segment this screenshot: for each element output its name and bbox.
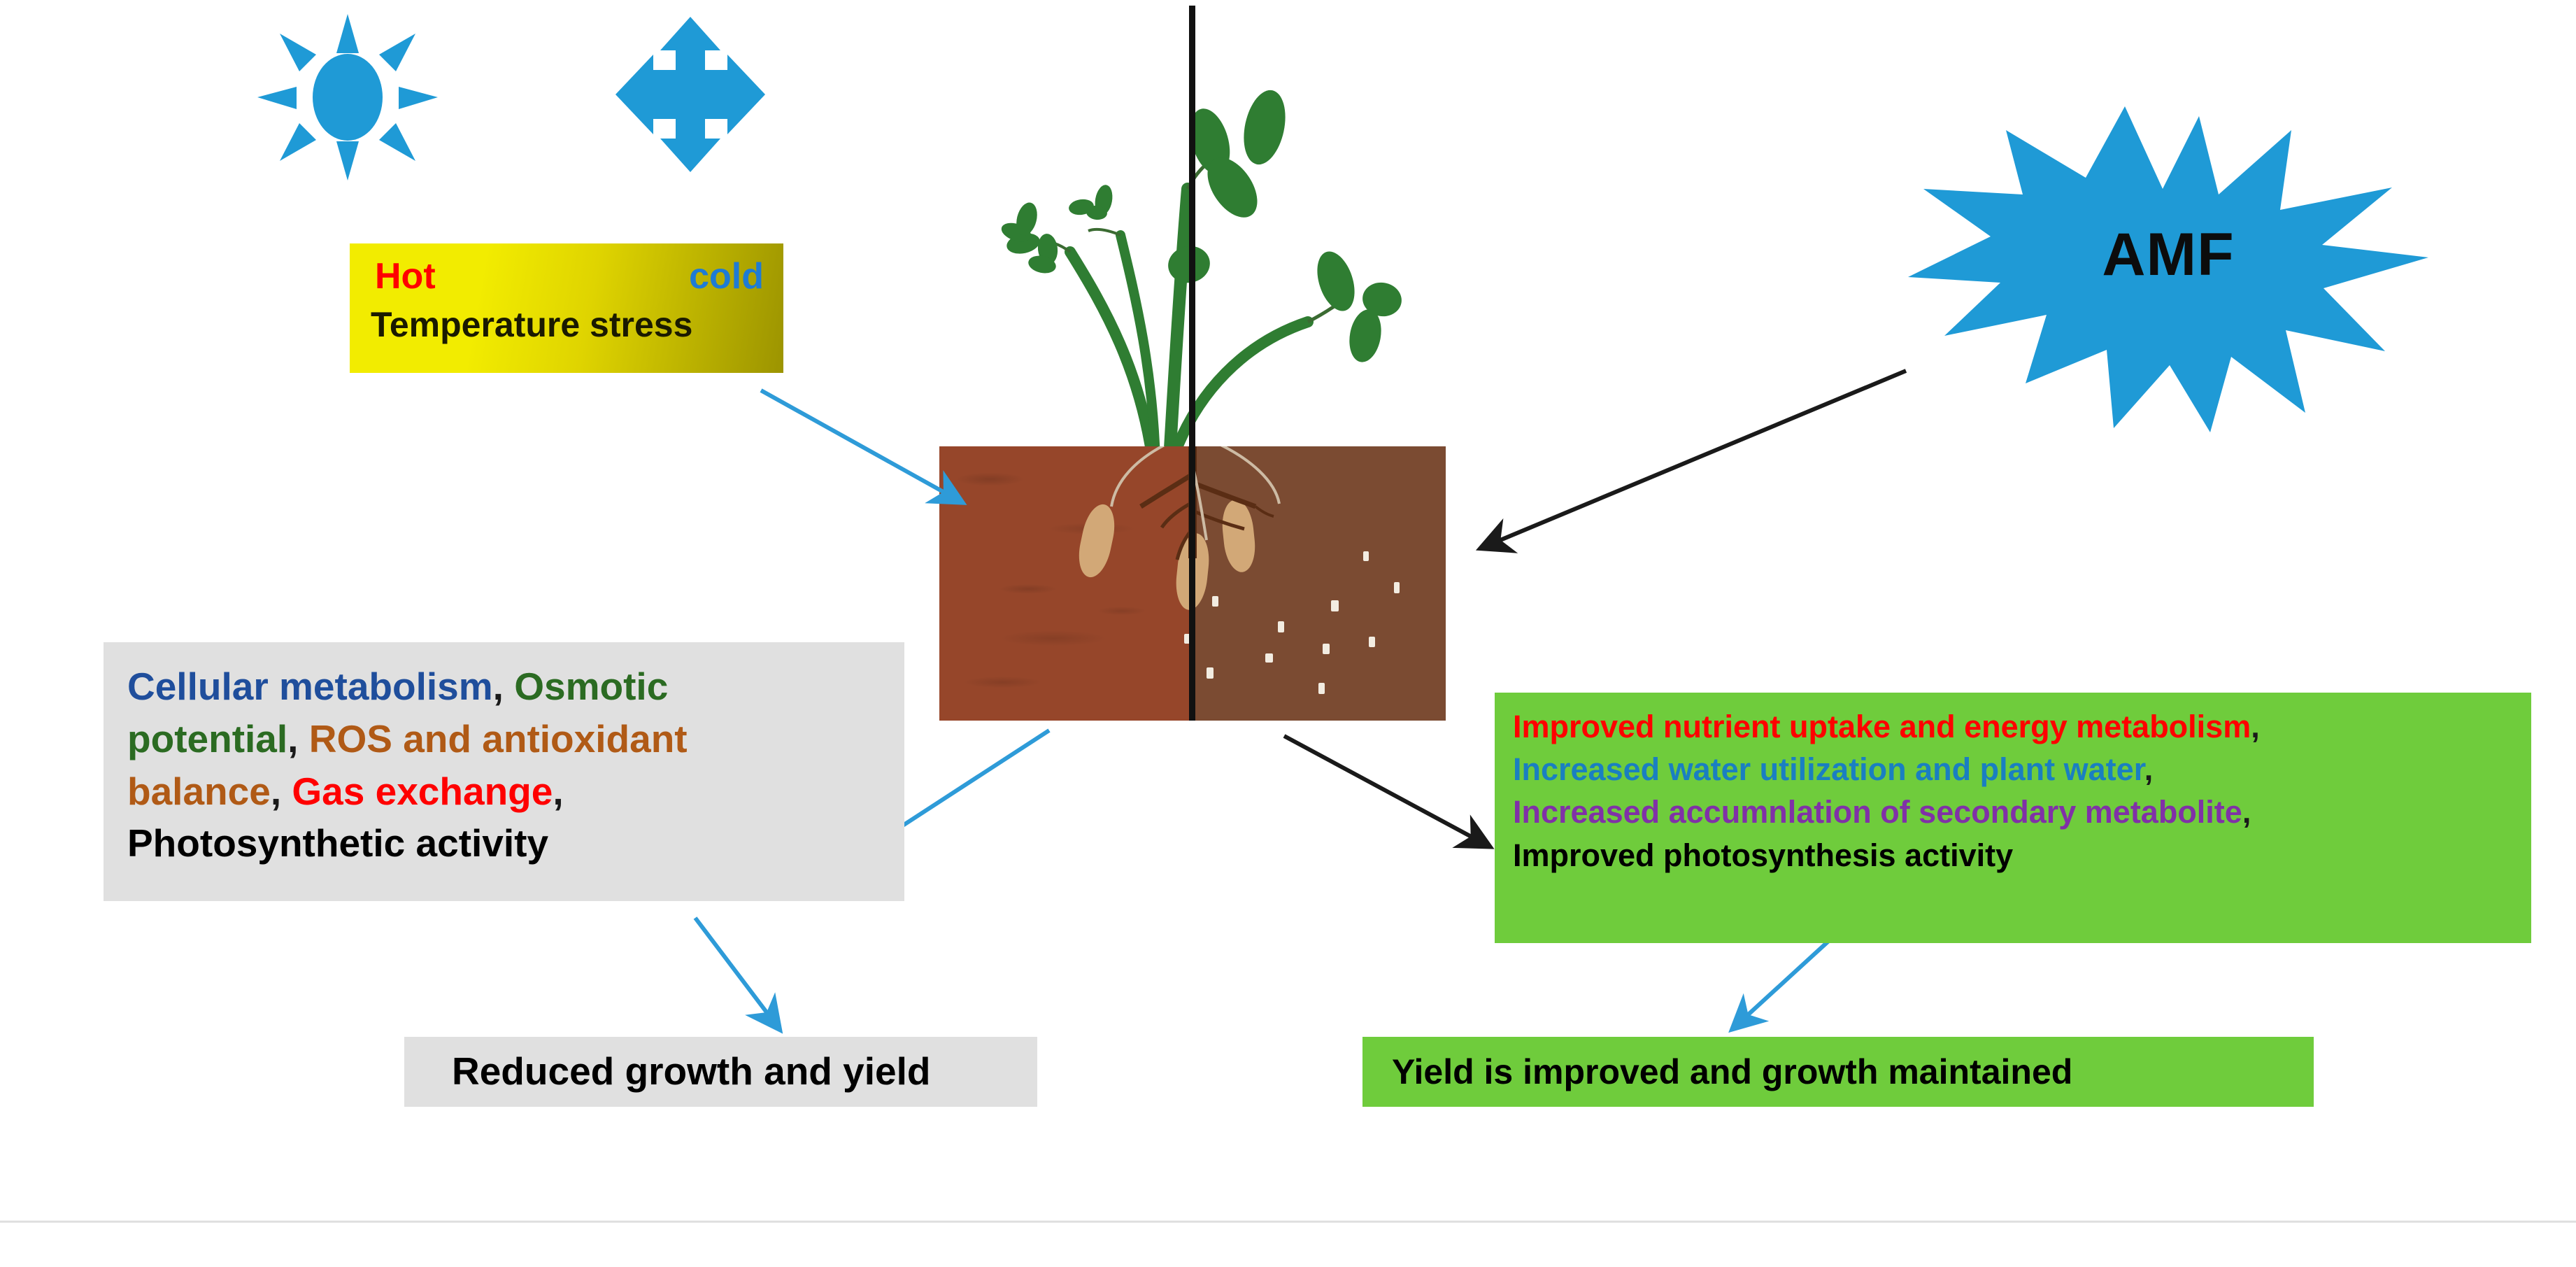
cold-label: cold — [689, 253, 764, 301]
benefit-seg: , — [2242, 794, 2251, 830]
soil-cross-section — [939, 446, 1446, 721]
stress-seg: potential — [127, 717, 287, 760]
stress-seg: Cellular metabolism — [127, 665, 493, 708]
stress-seg: , — [553, 770, 563, 813]
four-way-arrows-icon — [603, 14, 778, 175]
stress-effects-line: Photosynthetic activity — [127, 817, 881, 870]
temperature-stress-caption: Temperature stress — [365, 302, 768, 348]
yield-improved-outcome-box: Yield is improved and growth maintained — [1362, 1037, 2314, 1107]
temperature-stress-box: Hot cold Temperature stress — [350, 243, 783, 373]
yield-improved-label: Yield is improved and growth maintained — [1392, 1049, 2072, 1095]
stress-seg: , — [287, 717, 309, 760]
benefit-seg: Increased water utilization and plant wa… — [1513, 751, 2144, 787]
stress-seg: balance — [127, 770, 271, 813]
stress-seg: , — [271, 770, 292, 813]
hot-label: Hot — [375, 253, 436, 301]
stress-seg: Photosynthetic activity — [127, 821, 548, 865]
arrow-amf-to-soil — [1465, 364, 1920, 574]
stress-seg: Gas exchange — [292, 770, 553, 813]
reduced-growth-outcome-box: Reduced growth and yield — [404, 1037, 1037, 1107]
amf-label: AMF — [2042, 220, 2294, 290]
plant-stems-left — [999, 183, 1155, 460]
temperature-hot-cold-row: Hot cold — [365, 253, 768, 301]
arrow-soil-to-amf-benefits — [1273, 728, 1511, 889]
plant-stems-right — [1165, 86, 1404, 460]
stress-effects-box: Cellular metabolism, Osmotic potential, … — [104, 642, 904, 901]
sun-icon — [246, 10, 449, 185]
stress-effects-line: Cellular metabolism, Osmotic — [127, 660, 881, 713]
amf-benefits-box: Improved nutrient uptake and energy meta… — [1495, 693, 2531, 943]
arrow-stress-effects-to-reduced-growth — [685, 909, 839, 1049]
stress-seg: Osmotic — [514, 665, 668, 708]
treatment-divider-line — [1189, 6, 1195, 721]
benefit-seg: , — [2251, 709, 2260, 744]
benefit-seg: Improved photosynthesis activity — [1513, 837, 2013, 873]
stress-seg: , — [493, 665, 515, 708]
benefit-seg: Improved nutrient uptake and energy meta… — [1513, 709, 2251, 744]
stress-effects-line: balance, Gas exchange, — [127, 765, 881, 818]
amf-benefit-line: Increased water utilization and plant wa… — [1513, 748, 2513, 791]
plant-illustration — [930, 42, 1462, 462]
stress-seg: ROS and antioxidant — [309, 717, 688, 760]
amf-benefit-line: Improved nutrient uptake and energy meta… — [1513, 705, 2513, 748]
benefit-seg: , — [2144, 751, 2154, 787]
reduced-growth-label: Reduced growth and yield — [452, 1047, 931, 1097]
amf-benefit-line: Increased accumnlation of secondary meta… — [1513, 791, 2513, 833]
stress-effects-line: potential, ROS and antioxidant — [127, 713, 881, 765]
benefit-seg: Increased accumnlation of secondary meta… — [1513, 794, 2242, 830]
footer-divider — [0, 1220, 2576, 1223]
figure-canvas: Hot cold Temperature stress AMF — [0, 0, 2576, 1267]
amf-benefit-line: Improved photosynthesis activity — [1513, 834, 2513, 877]
